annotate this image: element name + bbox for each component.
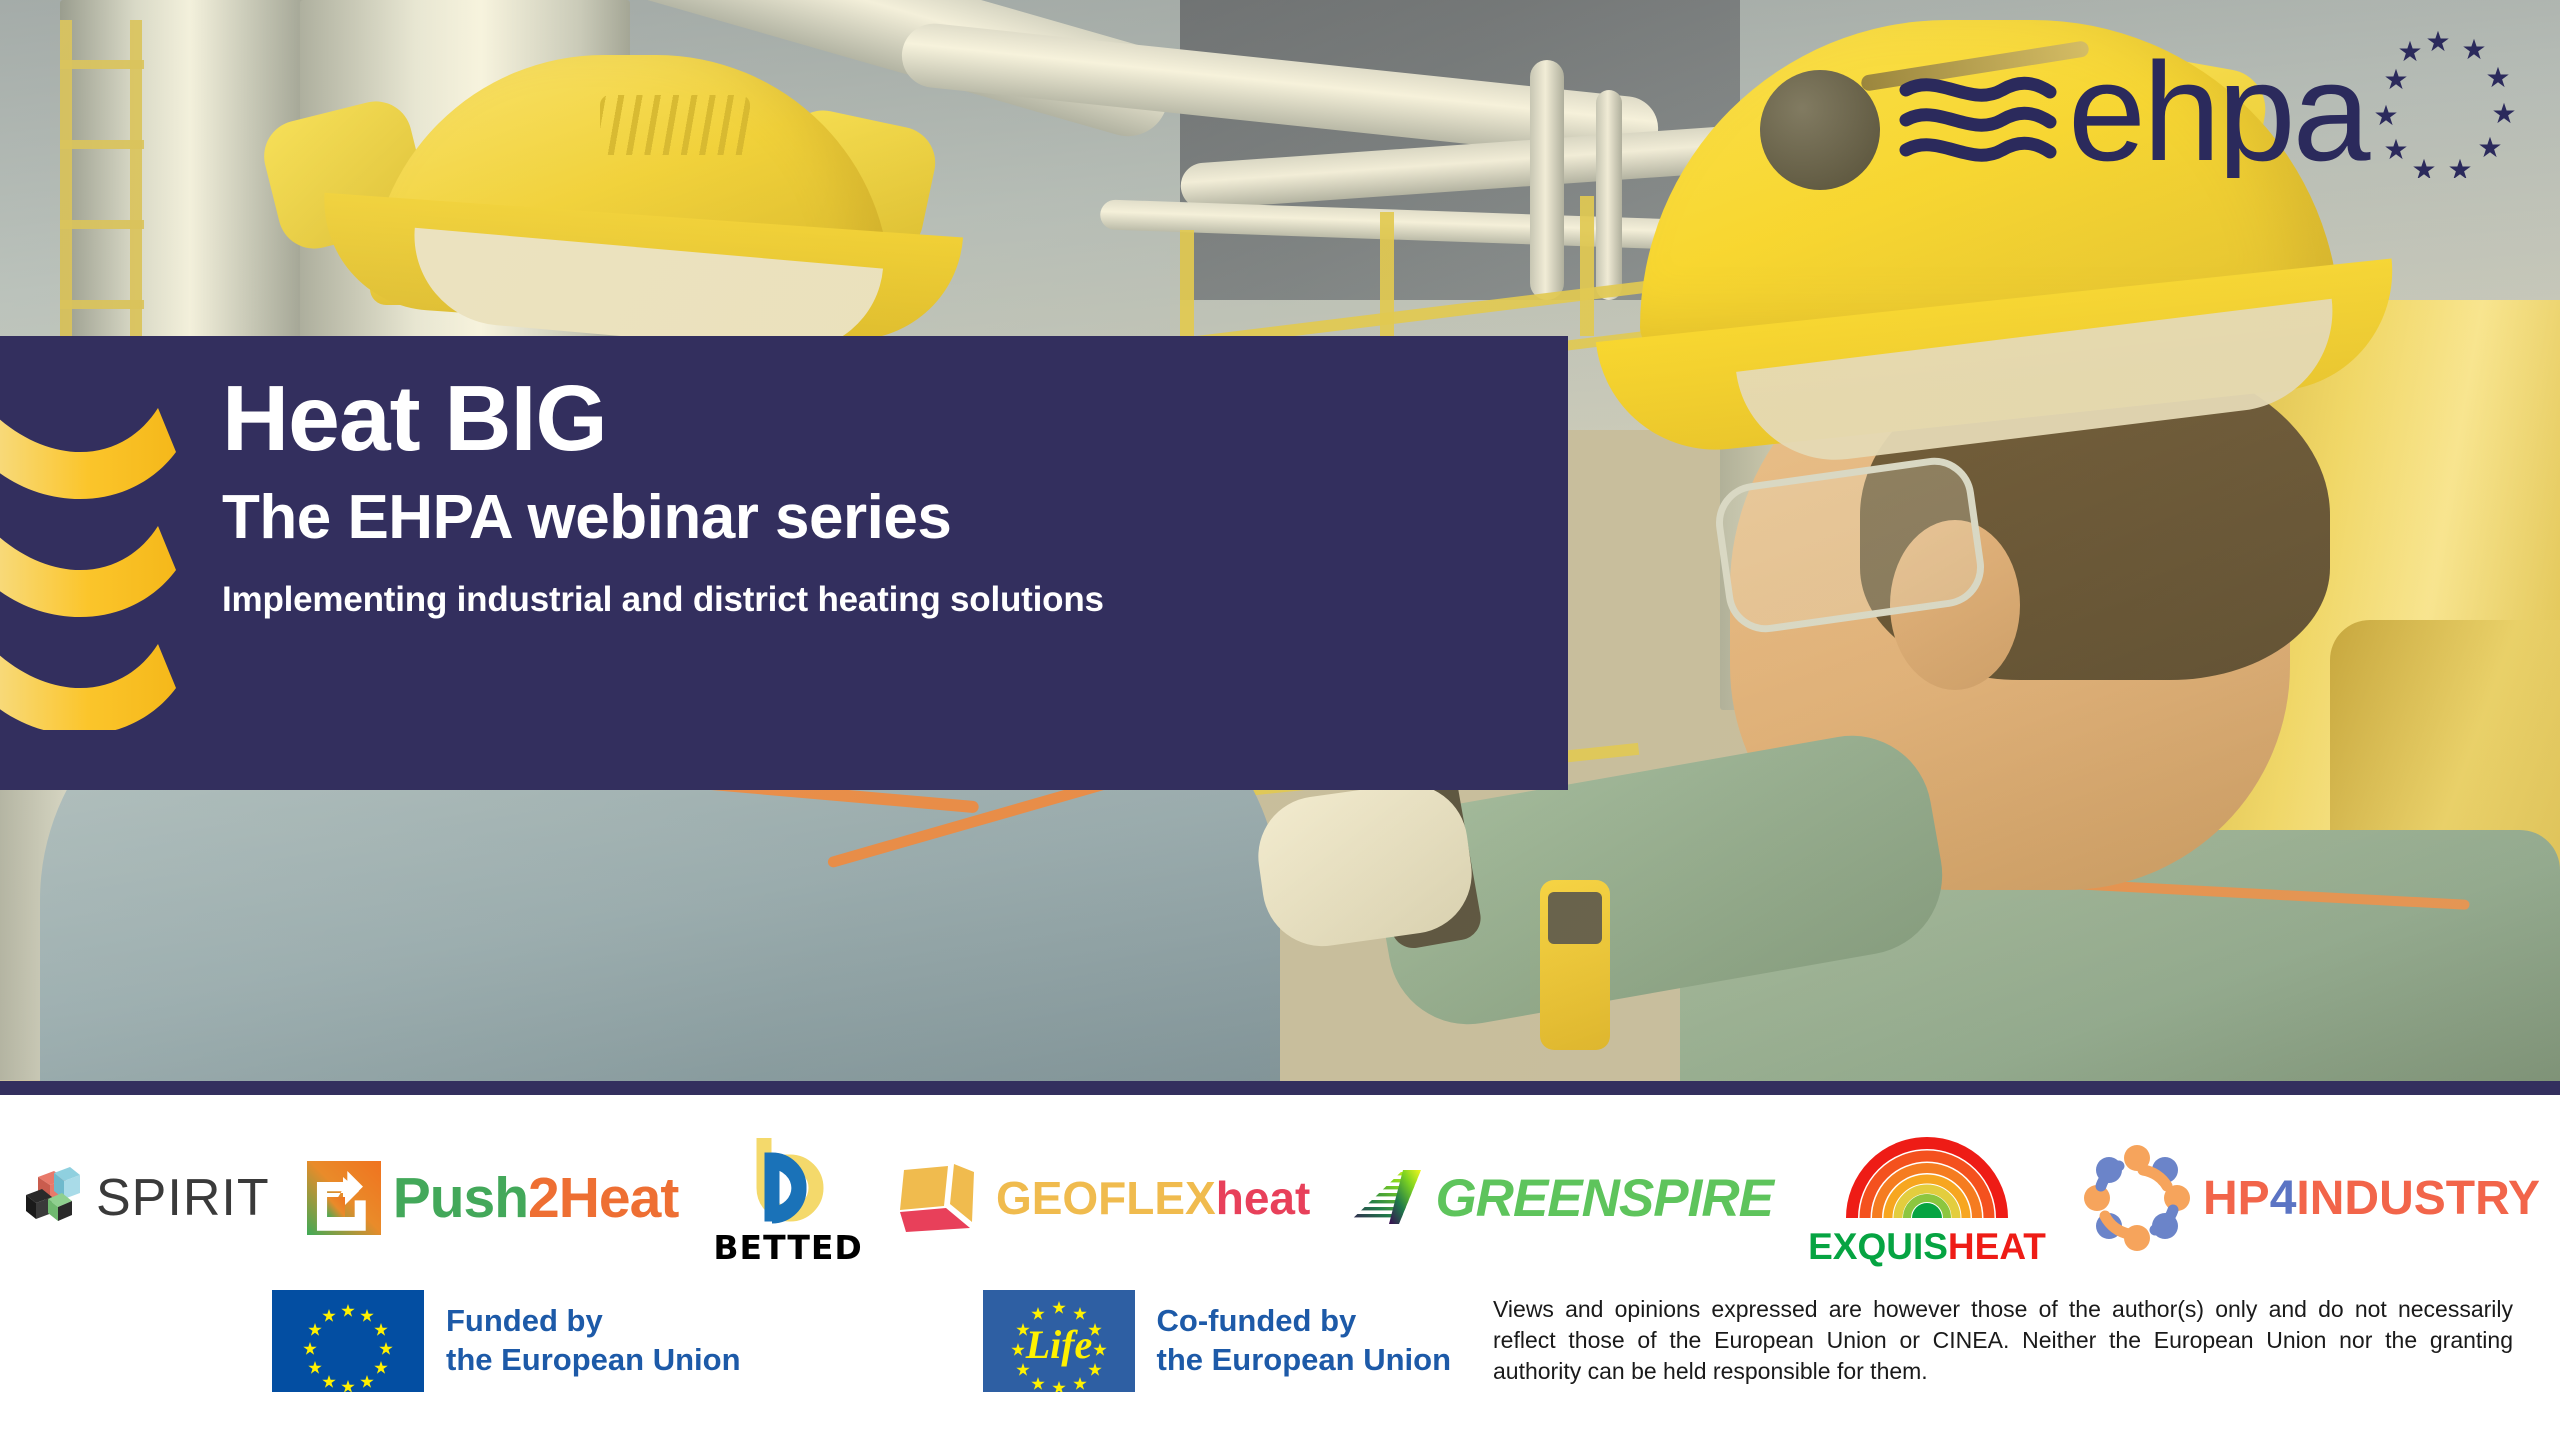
partner-logo-greenspire[interactable]: GREENSPIRE bbox=[1345, 1168, 1773, 1229]
push-text: Push bbox=[393, 1166, 528, 1230]
eu-badge-line2: the European Union bbox=[1157, 1341, 1452, 1380]
geoflex-shape-icon bbox=[898, 1158, 986, 1238]
industry-text: INDUSTRY bbox=[2296, 1172, 2540, 1225]
geoflex-text: GEOFLEX bbox=[996, 1172, 1216, 1224]
partner-logo-betted[interactable]: BETTED bbox=[713, 1130, 862, 1267]
push2heat-arrow-icon bbox=[305, 1159, 383, 1237]
page-subtitle: The EHPA webinar series bbox=[222, 487, 1542, 549]
heat-text: HEAT bbox=[1948, 1226, 2046, 1267]
eu-flag-icon bbox=[272, 1290, 424, 1392]
partner-logo-push2heat[interactable]: Push2Heat bbox=[305, 1159, 679, 1237]
page-description: Implementing industrial and district hea… bbox=[222, 581, 1542, 620]
eu-badge-label: Co-funded by the European Union bbox=[1157, 1302, 1452, 1380]
partner-label-hp4industry: HP4INDUSTRY bbox=[2203, 1171, 2540, 1226]
betted-b-icon bbox=[746, 1130, 830, 1226]
eu-badge-line2: the European Union bbox=[446, 1341, 741, 1380]
svg-text:ehpa: ehpa bbox=[2068, 33, 2371, 178]
partner-logo-hp4industry[interactable]: HP4INDUSTRY bbox=[2081, 1142, 2540, 1254]
eu-funding-row: Funded by the European Union bbox=[0, 1290, 2560, 1420]
heat-text: heat bbox=[1216, 1172, 1311, 1224]
title-panel: Heat BIG The EHPA webinar series Impleme… bbox=[0, 336, 1568, 790]
partner-logo-spirit[interactable]: SPIRIT bbox=[20, 1167, 270, 1229]
page-title: Heat BIG bbox=[222, 372, 1542, 465]
eu-life-flag-icon: Life bbox=[983, 1290, 1135, 1392]
partner-logo-row: SPIRIT bbox=[0, 1123, 2560, 1273]
2heat-text: 2Heat bbox=[528, 1166, 678, 1230]
hp4industry-circle-people-icon bbox=[2081, 1142, 2193, 1254]
heat-big-waves-icon bbox=[0, 390, 186, 730]
greenspire-wedge-icon bbox=[1345, 1168, 1425, 1228]
hp-text: HP bbox=[2203, 1172, 2270, 1225]
four-text: 4 bbox=[2270, 1172, 2297, 1225]
partner-label-exquisheat: EXQUISHEAT bbox=[1808, 1226, 2046, 1268]
eu-badge-line1: Co-funded by bbox=[1157, 1302, 1452, 1341]
webinar-banner: ehpa bbox=[0, 0, 2560, 1440]
footer: SPIRIT bbox=[0, 1095, 2560, 1440]
exquis-text: EXQUIS bbox=[1808, 1226, 1948, 1267]
partner-label-push2heat: Push2Heat bbox=[393, 1165, 679, 1231]
partner-label-spirit: SPIRIT bbox=[96, 1168, 270, 1228]
title-block: Heat BIG The EHPA webinar series Impleme… bbox=[222, 372, 1542, 620]
partner-label-greenspire: GREENSPIRE bbox=[1435, 1168, 1773, 1229]
eu-stars-circle-icon bbox=[2375, 31, 2515, 178]
partner-logo-geoflexheat[interactable]: GEOFLEXheat bbox=[898, 1158, 1310, 1238]
ehpa-logo: ehpa bbox=[1898, 28, 2518, 178]
eu-badge-funded: Funded by the European Union bbox=[272, 1290, 741, 1392]
partner-label-geoflexheat: GEOFLEXheat bbox=[996, 1171, 1310, 1225]
ehpa-waves-icon bbox=[1906, 83, 2050, 155]
eu-badge-cofunded: Life Co-funded by the European Union bbox=[983, 1290, 1452, 1392]
eu-badge-line1: Funded by bbox=[446, 1302, 741, 1341]
divider bbox=[0, 1081, 2560, 1095]
spirit-cubes-icon bbox=[20, 1167, 86, 1229]
partner-logo-exquisheat[interactable]: EXQUISHEAT bbox=[1808, 1128, 2046, 1268]
partner-label-betted: BETTED bbox=[713, 1228, 862, 1267]
exquisheat-arc-icon bbox=[1834, 1128, 2020, 1224]
life-mark: Life bbox=[1024, 1322, 1092, 1367]
hero-section: ehpa bbox=[0, 0, 2560, 1081]
eu-badge-label: Funded by the European Union bbox=[446, 1302, 741, 1380]
disclaimer-text: Views and opinions expressed are however… bbox=[1493, 1294, 2513, 1387]
